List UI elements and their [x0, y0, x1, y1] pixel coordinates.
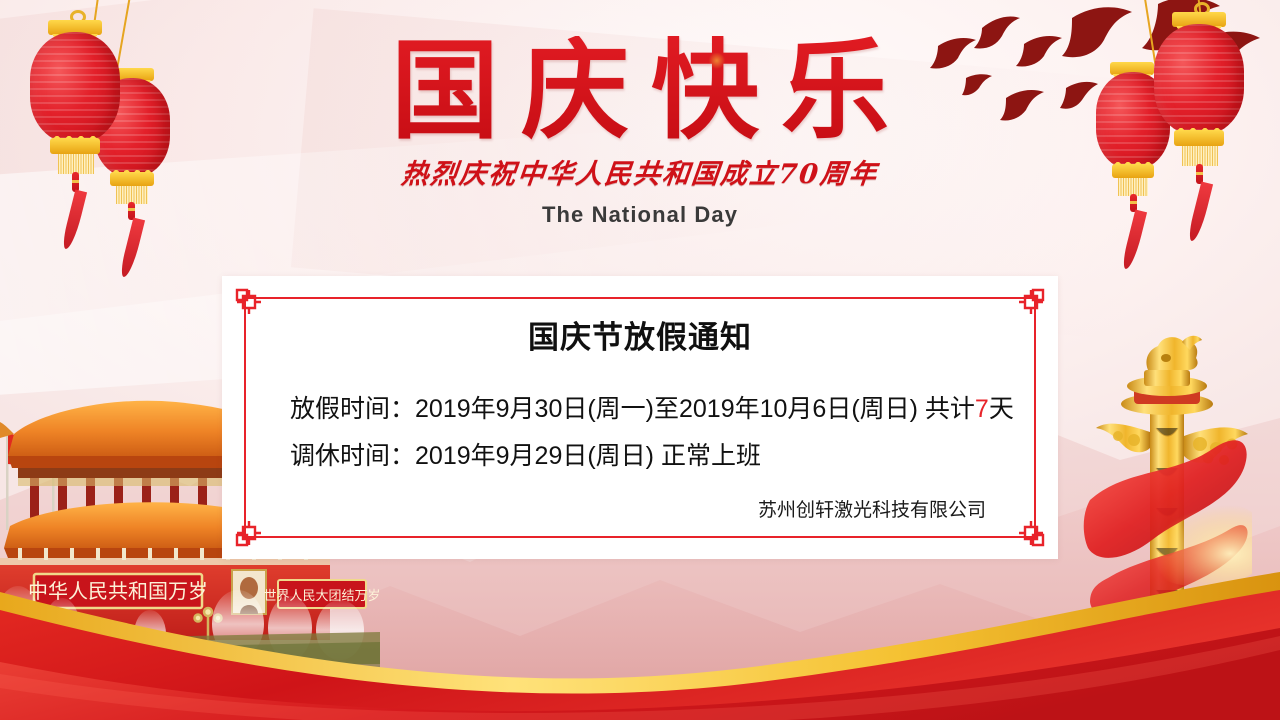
national-day-poster: 国庆快乐 热烈庆祝中华人民共和国成立70周年 The National Day	[0, 0, 1280, 720]
silk-ribbon	[0, 570, 1280, 720]
notice-line-suffix: 天	[989, 395, 1014, 423]
notice-line-highlight: 7	[975, 395, 989, 423]
notice-title: 国庆节放假通知	[272, 312, 1008, 357]
lantern-group-right	[1086, 0, 1276, 236]
corner-ornament-icon	[1016, 518, 1046, 548]
lantern-group-left	[2, 0, 212, 240]
notice-line-value: 2019年9月29日(周日) 正常上班	[415, 442, 761, 470]
corner-ornament-icon	[234, 287, 264, 317]
notice-line-label: 放假时间：	[290, 395, 415, 423]
corner-ornament-icon	[1016, 287, 1046, 317]
notice-lines: 放假时间：2019年9月30日(周一)至2019年10月6日(周日) 共计7天 …	[272, 397, 1008, 469]
notice-card-content: 国庆节放假通知 放假时间：2019年9月30日(周一)至2019年10月6日(周…	[272, 310, 1008, 533]
notice-line: 调休时间：2019年9月29日(周日) 正常上班	[290, 444, 1008, 469]
notice-line-label: 调休时间：	[290, 442, 415, 470]
notice-line: 放假时间：2019年9月30日(周一)至2019年10月6日(周日) 共计7天	[290, 397, 1008, 422]
notice-signature: 苏州创轩激光科技有限公司	[272, 495, 1008, 522]
notice-card: 国庆节放假通知 放假时间：2019年9月30日(周一)至2019年10月6日(周…	[222, 276, 1058, 559]
notice-line-value: 2019年9月30日(周一)至2019年10月6日(周日) 共计	[415, 395, 975, 423]
corner-ornament-icon	[234, 518, 264, 548]
